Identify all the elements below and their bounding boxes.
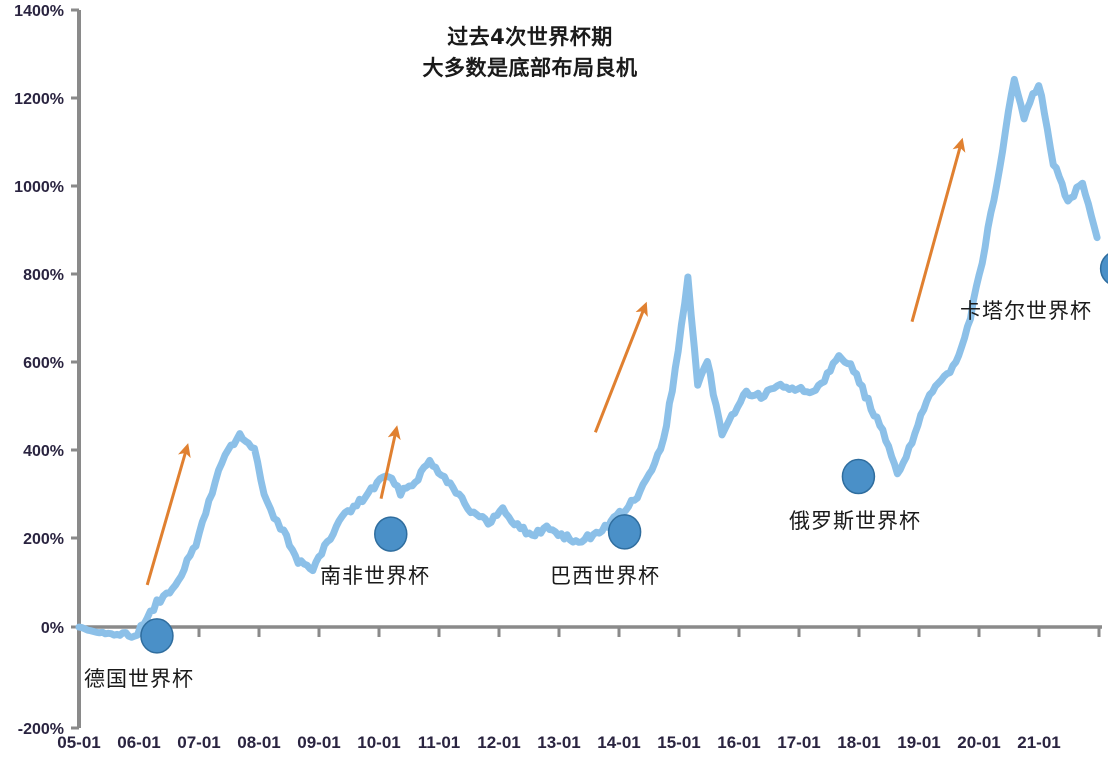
y-tick-label: 1400% bbox=[14, 3, 64, 20]
annotation-label-qatar: 卡塔尔世界杯 bbox=[960, 295, 1092, 325]
x-tick-label: 05-01 bbox=[57, 733, 100, 752]
x-tick-label: 11-01 bbox=[418, 733, 461, 752]
x-tick-label: 06-01 bbox=[117, 733, 160, 752]
x-tick-label: 20-01 bbox=[957, 733, 1000, 752]
chart-svg: 1400% 1200% 1000% 800% 600% 400% 200% 0%… bbox=[0, 0, 1108, 758]
x-tick-label: 13-01 bbox=[537, 733, 580, 752]
x-tick-label: 16-01 bbox=[717, 733, 760, 752]
x-tick-label: 18-01 bbox=[837, 733, 880, 752]
x-tick-label: 12-01 bbox=[477, 733, 520, 752]
world-cup-marker[interactable] bbox=[842, 460, 874, 494]
y-tick-label: 800% bbox=[23, 267, 64, 284]
x-tick-label: 19-01 bbox=[897, 733, 940, 752]
annotation-label-germany: 德国世界杯 bbox=[84, 663, 194, 693]
x-tick-label: 21-01 bbox=[1017, 733, 1060, 752]
x-tick-label: 15-01 bbox=[657, 733, 700, 752]
y-tick-label: 600% bbox=[23, 355, 64, 372]
x-tick-label: 10-01 bbox=[357, 733, 400, 752]
y-tick-label: 200% bbox=[23, 531, 64, 548]
annotation-label-brazil: 巴西世界杯 bbox=[550, 560, 660, 590]
y-tick-label: 1000% bbox=[14, 179, 64, 196]
world-cup-marker[interactable] bbox=[141, 619, 173, 653]
x-tick-label: 09-01 bbox=[297, 733, 340, 752]
y-tick-label: 0% bbox=[41, 620, 64, 637]
x-tick-label: 08-01 bbox=[237, 733, 280, 752]
world-cup-marker[interactable] bbox=[375, 517, 407, 551]
x-tick-label: 07-01 bbox=[177, 733, 220, 752]
annotation-label-russia: 俄罗斯世界杯 bbox=[789, 505, 921, 535]
x-tick-label: 14-01 bbox=[597, 733, 640, 752]
world-cup-marker[interactable] bbox=[609, 515, 641, 549]
annotation-label-south-africa: 南非世界杯 bbox=[320, 560, 430, 590]
x-tick-label: 17-01 bbox=[777, 733, 820, 752]
chart-container: 1400% 1200% 1000% 800% 600% 400% 200% 0%… bbox=[0, 0, 1108, 758]
y-tick-label: 1200% bbox=[14, 91, 64, 108]
y-tick-label: 400% bbox=[23, 443, 64, 460]
